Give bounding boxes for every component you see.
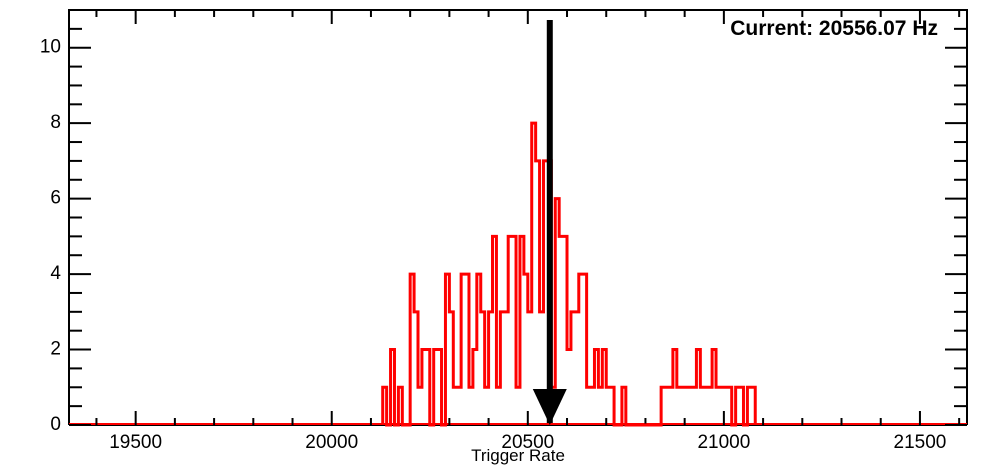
x-axis-ticks [96, 10, 959, 425]
y-tick-label: 6 [50, 188, 61, 209]
plot-frame [69, 10, 967, 425]
y-tick-label: 8 [50, 112, 61, 133]
y-tick-label: 0 [50, 414, 61, 435]
x-tick-label: 19500 [109, 432, 162, 453]
x-tick-label: 20000 [305, 432, 358, 453]
x-tick-label: 21000 [697, 432, 750, 453]
y-tick-label: 10 [40, 37, 61, 58]
histogram-outline [383, 123, 756, 425]
x-axis-title: Trigger Rate [471, 446, 565, 465]
histogram-canvas: 1950020000205002100021500 0246810 Trigge… [0, 0, 996, 472]
y-tick-label: 4 [50, 263, 61, 284]
y-tick-label: 2 [50, 339, 61, 360]
trigger-rate-histogram-page: 1950020000205002100021500 0246810 Trigge… [0, 0, 996, 472]
x-tick-label: 21500 [894, 432, 947, 453]
y-axis-ticks [69, 10, 967, 425]
current-rate-readout: Current: 20556.07 Hz [730, 17, 938, 40]
current-rate-arrow [533, 20, 567, 425]
y-axis-tick-labels: 0246810 [40, 37, 62, 435]
